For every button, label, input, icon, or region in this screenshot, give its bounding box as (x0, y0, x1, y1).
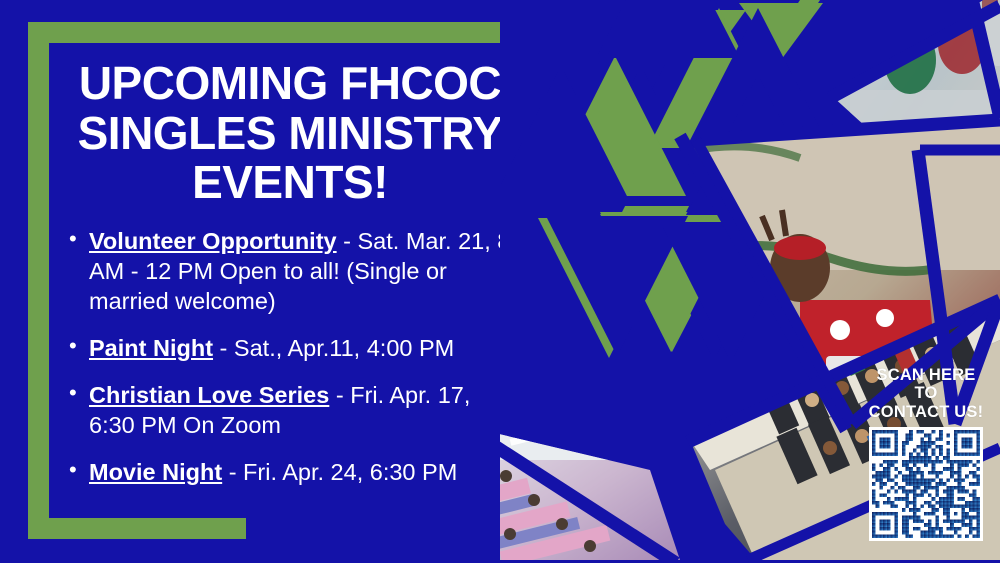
page-title: UPCOMING FHCOC SINGLES MINISTRY EVENTS! (49, 43, 531, 208)
event-name: Christian Love Series (89, 382, 329, 408)
list-item: Volunteer Opportunity - Sat. Mar. 21, 8 … (67, 226, 519, 316)
frame-top-bar (28, 22, 531, 43)
event-details: - Sat., Apr.11, 4:00 PM (213, 335, 454, 361)
qr-contact-block[interactable]: SCAN HERE TO CONTACT US! (858, 366, 994, 541)
frame-bottom-bar (28, 518, 246, 539)
qr-caption-line-3: CONTACT US! (858, 403, 994, 421)
flyer-canvas: UPCOMING FHCOC SINGLES MINISTRY EVENTS! … (0, 0, 1000, 563)
frame-left-bar (28, 22, 49, 539)
qr-caption: SCAN HERE TO CONTACT US! (858, 366, 994, 421)
qr-code[interactable] (869, 427, 983, 541)
list-item: Paint Night - Sat., Apr.11, 4:00 PM (67, 333, 519, 363)
text-panel: UPCOMING FHCOC SINGLES MINISTRY EVENTS! … (49, 43, 531, 518)
qr-caption-line-1: SCAN HERE (858, 366, 994, 384)
list-item: Christian Love Series - Fri. Apr. 17, 6:… (67, 380, 519, 440)
event-name: Paint Night (89, 335, 213, 361)
qr-caption-line-2: TO (858, 384, 994, 402)
event-details: - Fri. Apr. 24, 6:30 PM (222, 459, 457, 485)
qr-code-icon (872, 430, 980, 538)
events-list: Volunteer Opportunity - Sat. Mar. 21, 8 … (49, 226, 531, 488)
event-name: Volunteer Opportunity (89, 228, 337, 254)
event-name: Movie Night (89, 459, 222, 485)
list-item: Movie Night - Fri. Apr. 24, 6:30 PM (67, 457, 519, 487)
